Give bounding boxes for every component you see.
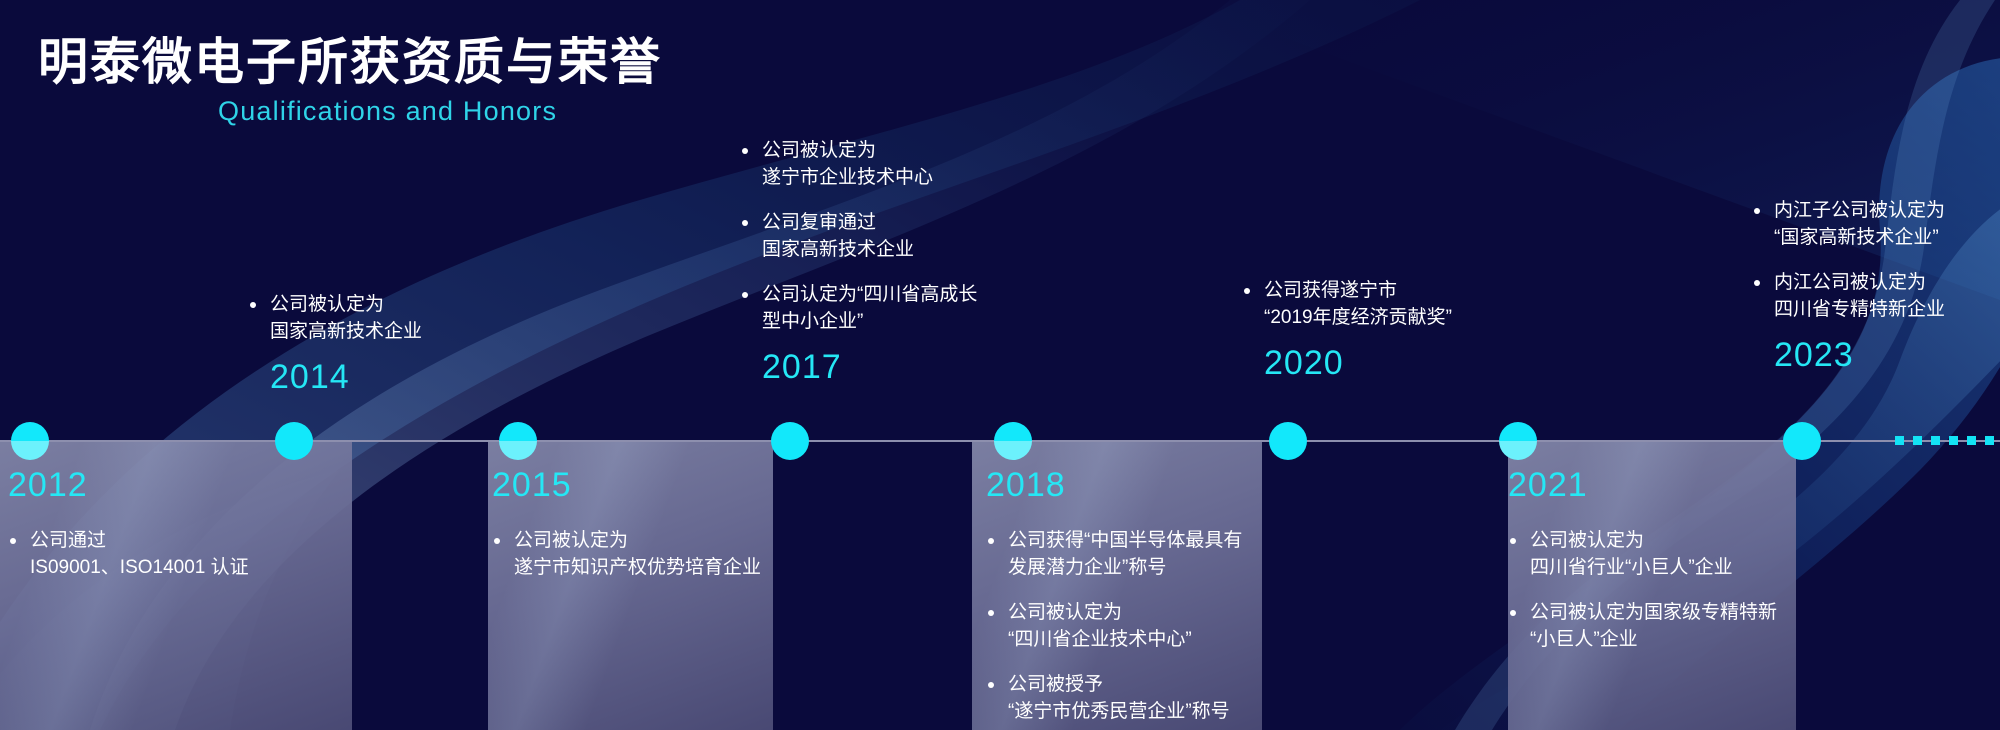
list-item: 公司被认定为 国家高新技术企业 — [248, 292, 422, 346]
timeline-bullets-2018: 公司获得“中国半导体最具有 发展潜力企业”称号 公司被认定为 “四川省企业技术中… — [986, 528, 1242, 726]
list-item: 公司被认定为国家级专精特新 “小巨人”企业 — [1508, 600, 1777, 654]
list-item: 公司被认定为 遂宁市知识产权优势培育企业 — [492, 528, 761, 582]
timeline-entry-2023: 内江子公司被认定为 “国家高新技术企业” 内江公司被认定为 四川省专精特新企业 … — [1752, 198, 1945, 372]
timeline-dot-2012[interactable] — [11, 422, 49, 460]
timeline-entry-2015: 2015 公司被认定为 遂宁市知识产权优势培育企业 — [492, 468, 761, 582]
list-item: 内江公司被认定为 四川省专精特新企业 — [1752, 270, 1945, 324]
timeline-entry-2014: 公司被认定为 国家高新技术企业 2014 — [248, 292, 422, 394]
timeline-dot-2021[interactable] — [1499, 422, 1537, 460]
timeline-entry-2018: 2018 公司获得“中国半导体最具有 发展潜力企业”称号 公司被认定为 “四川省… — [986, 468, 1242, 726]
timeline-dot-2014[interactable] — [275, 422, 313, 460]
timeline-dot-2023[interactable] — [1783, 422, 1821, 460]
title-block: 明泰微电子所获资质与荣誉 Qualifications and Honors — [38, 34, 662, 127]
list-item: 公司被认定为 四川省行业“小巨人”企业 — [1508, 528, 1777, 582]
list-item: 公司获得“中国半导体最具有 发展潜力企业”称号 — [986, 528, 1242, 582]
list-item: 公司被认定为 “四川省企业技术中心” — [986, 600, 1242, 654]
timeline-year-2012: 2012 — [8, 468, 249, 502]
timeline-entry-2020: 公司获得遂宁市 “2019年度经济贡献奖” 2020 — [1242, 278, 1452, 380]
slide-canvas: 明泰微电子所获资质与荣誉 Qualifications and Honors 2… — [0, 0, 2000, 730]
timeline-bullets-2017: 公司被认定为 遂宁市企业技术中心 公司复审通过 国家高新技术企业 公司认定为“四… — [740, 138, 977, 336]
timeline-bullets-2023: 内江子公司被认定为 “国家高新技术企业” 内江公司被认定为 四川省专精特新企业 — [1752, 198, 1945, 324]
list-item: 公司被授予 “遂宁市优秀民营企业”称号 — [986, 672, 1242, 726]
timeline-bullets-2021: 公司被认定为 四川省行业“小巨人”企业 公司被认定为国家级专精特新 “小巨人”企… — [1508, 528, 1777, 654]
timeline-dot-2020[interactable] — [1269, 422, 1307, 460]
timeline-bullets-2014: 公司被认定为 国家高新技术企业 — [248, 292, 422, 346]
timeline-bullets-2012: 公司通过 IS09001、ISO14001 认证 — [8, 528, 249, 582]
timeline-year-2021: 2021 — [1508, 468, 1777, 502]
timeline-year-2015: 2015 — [492, 468, 761, 502]
timeline-year-2023: 2023 — [1774, 338, 1945, 372]
list-item: 公司获得遂宁市 “2019年度经济贡献奖” — [1242, 278, 1452, 332]
list-item: 公司通过 IS09001、ISO14001 认证 — [8, 528, 249, 582]
timeline-year-2014: 2014 — [270, 360, 422, 394]
timeline-entry-2012: 2012 公司通过 IS09001、ISO14001 认证 — [8, 468, 249, 582]
timeline-dot-2015[interactable] — [499, 422, 537, 460]
timeline-entry-2017: 公司被认定为 遂宁市企业技术中心 公司复审通过 国家高新技术企业 公司认定为“四… — [740, 138, 977, 384]
list-item: 公司认定为“四川省高成长 型中小企业” — [740, 282, 977, 336]
timeline-dot-2018[interactable] — [994, 422, 1032, 460]
list-item: 公司复审通过 国家高新技术企业 — [740, 210, 977, 264]
list-item: 公司被认定为 遂宁市企业技术中心 — [740, 138, 977, 192]
timeline-entry-2021: 2021 公司被认定为 四川省行业“小巨人”企业 公司被认定为国家级专精特新 “… — [1508, 468, 1777, 654]
timeline-dot-2017[interactable] — [771, 422, 809, 460]
list-item: 内江子公司被认定为 “国家高新技术企业” — [1752, 198, 1945, 252]
timeline-year-2017: 2017 — [762, 350, 977, 384]
timeline-end-dashes — [1895, 436, 1994, 445]
page-title: 明泰微电子所获资质与荣誉 — [38, 34, 662, 90]
timeline-year-2018: 2018 — [986, 468, 1242, 502]
timeline-bullets-2015: 公司被认定为 遂宁市知识产权优势培育企业 — [492, 528, 761, 582]
page-subtitle: Qualifications and Honors — [218, 96, 662, 127]
timeline-bullets-2020: 公司获得遂宁市 “2019年度经济贡献奖” — [1242, 278, 1452, 332]
timeline-year-2020: 2020 — [1264, 346, 1452, 380]
